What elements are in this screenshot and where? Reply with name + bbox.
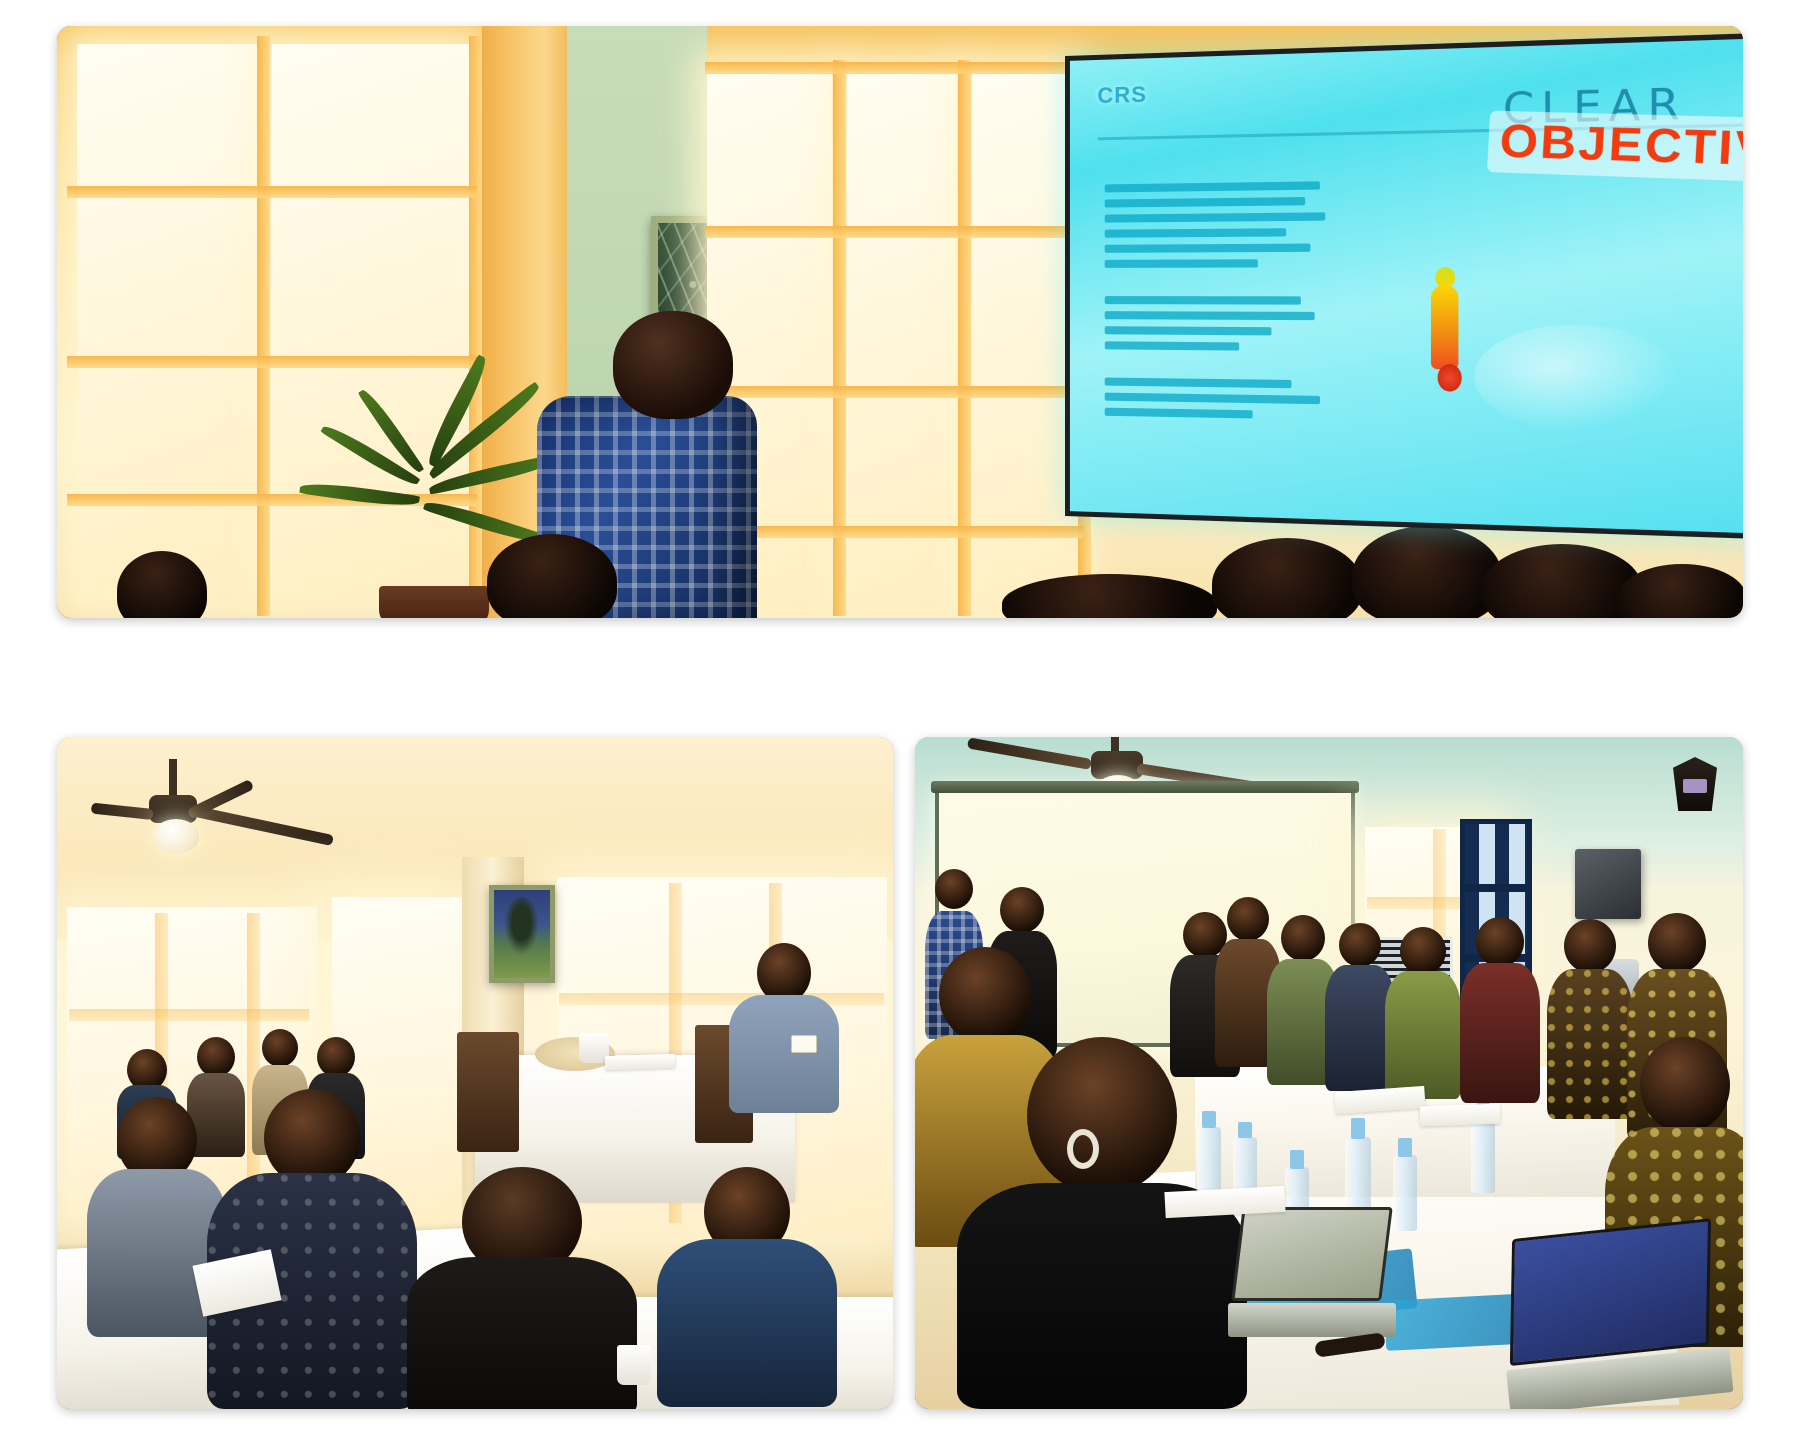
chair-left bbox=[457, 1032, 519, 1152]
water-bottle-1 bbox=[1197, 1127, 1221, 1199]
slide-highlight-objectives: OBJECTIVES bbox=[1487, 110, 1743, 184]
framed-landscape-painting bbox=[489, 885, 555, 983]
water-bottle-5 bbox=[1393, 1155, 1417, 1231]
slide-swoosh-graphic bbox=[1474, 324, 1678, 433]
window-mullion-h5 bbox=[705, 226, 1083, 238]
ceiling-fan-light bbox=[153, 819, 199, 853]
projection-screen: CRS CLEAR OBJECTIVES bbox=[1065, 31, 1743, 542]
laptop-base bbox=[1228, 1303, 1396, 1337]
participant-br-foreground-centre bbox=[957, 1037, 1247, 1409]
window-mullion-h2 bbox=[67, 356, 477, 368]
participant-foreground-patterned bbox=[207, 1089, 417, 1409]
photo-conference-table-participants[interactable] bbox=[915, 737, 1743, 1409]
wall-panel bbox=[1575, 849, 1641, 919]
photo-presenter-at-projector-screen[interactable]: CRS CLEAR OBJECTIVES bbox=[57, 26, 1743, 618]
laptop-screen bbox=[1231, 1207, 1392, 1301]
window-mullion-h6 bbox=[705, 386, 1083, 398]
window-mullion-h1 bbox=[67, 186, 477, 198]
paper-on-table bbox=[605, 1054, 675, 1070]
facilitator-denim-top bbox=[729, 995, 839, 1113]
audience-head-5 bbox=[1352, 526, 1502, 618]
facilitator-head bbox=[757, 943, 811, 1003]
window-mullion-h7 bbox=[705, 526, 1083, 538]
window-pane-left-2 bbox=[272, 44, 472, 604]
participant-foreground-right bbox=[657, 1167, 837, 1407]
scene-bottom-left bbox=[57, 737, 893, 1409]
laptop-screen-blue bbox=[1510, 1218, 1711, 1366]
screen-roller-bar bbox=[931, 781, 1359, 793]
window-mullion-v2 bbox=[469, 36, 482, 616]
window-pane-left-1 bbox=[77, 44, 257, 604]
window-mullion-v1 bbox=[257, 36, 270, 616]
photo-meeting-room-wide-view[interactable] bbox=[57, 737, 893, 1409]
window-mullion-bl-5 bbox=[69, 1009, 309, 1021]
audience-head-2 bbox=[487, 534, 617, 618]
plant-pot bbox=[379, 586, 489, 618]
slide-bullet-block bbox=[1104, 174, 1339, 428]
coffee-cup-foreground bbox=[617, 1345, 651, 1385]
presenter-head bbox=[613, 311, 733, 419]
wall-sconce-lantern bbox=[1673, 757, 1717, 811]
scene-top: CRS CLEAR OBJECTIVES bbox=[57, 26, 1743, 618]
laptop-blue-screen[interactable] bbox=[1504, 1219, 1721, 1409]
scene-bottom-right bbox=[915, 737, 1743, 1409]
water-bottle-6 bbox=[1471, 1119, 1495, 1193]
hoop-earring bbox=[1067, 1129, 1099, 1169]
slide-logo: CRS bbox=[1097, 81, 1147, 109]
laptop-silver[interactable] bbox=[1237, 1207, 1387, 1337]
ceiling-fan-rod bbox=[169, 759, 177, 799]
participant-br-6 bbox=[1385, 927, 1461, 1099]
participant-br-7 bbox=[1460, 917, 1540, 1103]
slide-person-graphic bbox=[1429, 267, 1462, 394]
facilitator-name-badge bbox=[791, 1035, 817, 1053]
window-mullion-h4 bbox=[705, 62, 1083, 74]
participant-foreground-headwrap bbox=[407, 1167, 637, 1409]
painting-tree bbox=[504, 897, 539, 955]
facilitator-woman bbox=[729, 943, 839, 1113]
photo-collage: CRS CLEAR OBJECTIVES bbox=[0, 0, 1800, 1441]
paper-br-2 bbox=[1420, 1104, 1501, 1127]
